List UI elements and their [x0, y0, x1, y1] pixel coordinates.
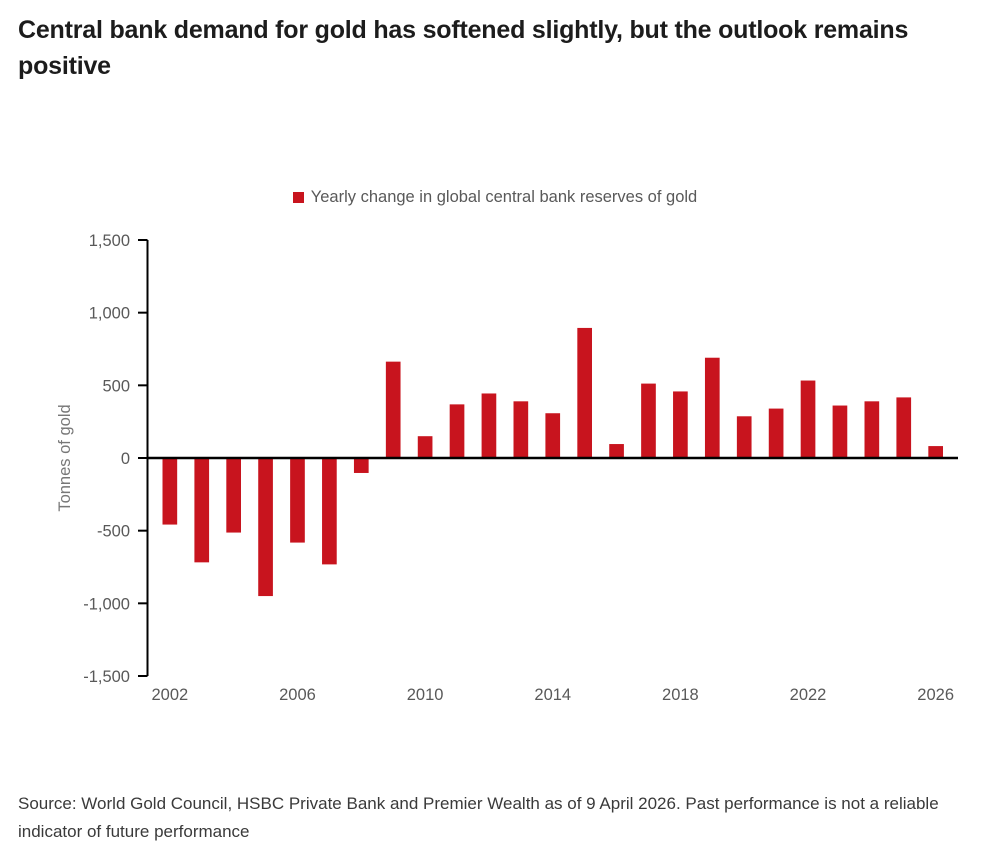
bar-chart-svg: 1,5001,0005000-500-1,000-1,500 Tonnes of…: [0, 0, 990, 770]
bar[interactable]: [737, 416, 752, 458]
bar[interactable]: [322, 458, 337, 564]
y-axis-tick-label: 500: [102, 377, 130, 395]
bar[interactable]: [641, 384, 656, 458]
source-note: Source: World Gold Council, HSBC Private…: [18, 790, 978, 845]
bar[interactable]: [258, 458, 273, 596]
chart-plot-area: 1,5001,0005000-500-1,000-1,500 Tonnes of…: [0, 0, 990, 770]
bar[interactable]: [896, 397, 911, 458]
bar[interactable]: [928, 446, 943, 458]
bar[interactable]: [386, 362, 401, 458]
bar[interactable]: [354, 458, 369, 473]
bar[interactable]: [194, 458, 209, 562]
bar[interactable]: [801, 381, 816, 458]
bar[interactable]: [769, 409, 784, 458]
bar[interactable]: [162, 458, 177, 525]
bars-group: [162, 328, 943, 596]
x-axis-tick-label: 2006: [279, 686, 316, 704]
x-axis-tick-label: 2022: [790, 686, 827, 704]
bar[interactable]: [226, 458, 241, 533]
bar[interactable]: [290, 458, 305, 543]
bar[interactable]: [577, 328, 592, 458]
bar[interactable]: [609, 444, 624, 458]
bar[interactable]: [450, 404, 465, 458]
y-axis-tick-label: 1,500: [89, 232, 130, 250]
bar[interactable]: [514, 401, 529, 458]
y-axis-tick-label: -500: [97, 523, 130, 541]
x-axis-tick-label: 2010: [407, 686, 444, 704]
y-axis-tick-label: -1,500: [83, 668, 130, 686]
y-axis-tick-label: 0: [121, 450, 130, 468]
y-axis-tick-labels: 1,5001,0005000-500-1,000-1,500: [83, 232, 130, 686]
bar[interactable]: [418, 436, 433, 458]
y-axis-tick-label: -1,000: [83, 595, 130, 613]
bar[interactable]: [545, 413, 560, 458]
bar[interactable]: [705, 358, 720, 458]
x-axis-tick-label: 2002: [151, 686, 188, 704]
x-axis-tick-label: 2026: [917, 686, 954, 704]
x-axis-tick-label: 2014: [534, 686, 571, 704]
y-axis-tick-label: 1,000: [89, 305, 130, 323]
y-axis-group: 1,5001,0005000-500-1,000-1,500 Tonnes of…: [56, 232, 148, 686]
bar[interactable]: [865, 401, 880, 458]
y-axis-ticks: [138, 240, 148, 676]
bar[interactable]: [482, 393, 497, 458]
bar[interactable]: [833, 406, 848, 458]
y-axis-title: Tonnes of gold: [56, 404, 74, 511]
x-axis-tick-labels: 2002200620102014201820222026: [151, 686, 954, 704]
x-axis-tick-label: 2018: [662, 686, 699, 704]
bar[interactable]: [673, 391, 688, 458]
